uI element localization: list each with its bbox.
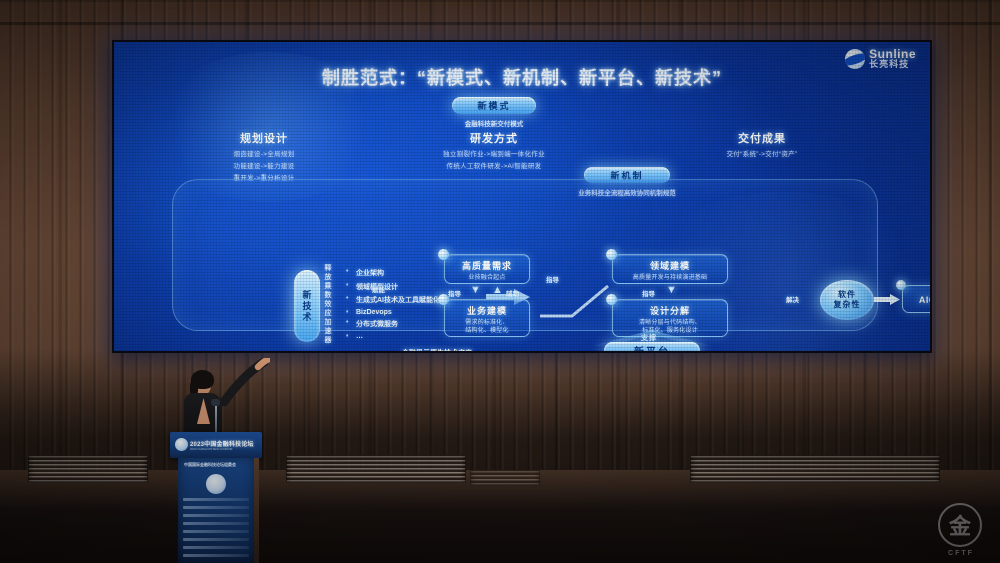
watermark-text: CFTF xyxy=(934,550,988,557)
label-guide-left: 指导 xyxy=(448,288,461,298)
column-delivery-result: 交付成果 交付“系统”->交付“资产” xyxy=(672,130,852,158)
microphone-icon xyxy=(211,399,220,406)
microphone-stand xyxy=(215,404,217,434)
podium-front-banner: 中国国际金融科技论坛组委会 xyxy=(178,458,254,563)
column-title: 交付成果 xyxy=(672,130,852,146)
label-resolve: 解决 xyxy=(786,294,799,304)
pill-new-technology-label: 新技术 xyxy=(294,270,320,342)
column-line: 交付“系统”->交付“资产” xyxy=(672,148,852,158)
software-complexity-bubble: 软件 复杂性 xyxy=(820,280,874,320)
tech-bullet-list: 企业架构 领域模型设计 生成式AI技术及工具赋能化 BizDevops 分布式微… xyxy=(346,268,440,343)
slide-title: 制胜范式：“新模式、新机制、新平台、新技术” xyxy=(114,64,930,90)
pill-new-model: 新模式 xyxy=(452,97,536,114)
podium-sponsor-row xyxy=(183,554,249,557)
flow-box-title: 业务建模 xyxy=(445,304,529,317)
arrow-label-empower: 赋能 xyxy=(372,284,385,294)
flow-box-sub: 高质量开发与持续演进基础 xyxy=(613,274,727,282)
wall-vent-left xyxy=(28,455,148,483)
tech-bullet-item: 生成式AI技术及工具赋能化 xyxy=(346,295,440,305)
resolve-arrow-icon xyxy=(874,294,900,305)
podium: 2023中国金融科技论坛 2023 CHINA FINTECH FORUM 中国… xyxy=(170,432,262,563)
pill-new-model-caption: 金融科技新交付模式 xyxy=(432,118,556,128)
column-line: 独立割裂作业->端到端一体化作业 xyxy=(404,148,584,158)
aigc-node-dot xyxy=(896,280,906,290)
podium-emblem-icon xyxy=(175,438,188,451)
flow-box-sub: 需求的标准化、 结构化、模型化 xyxy=(445,319,529,335)
watermark-glyph: 金 xyxy=(934,503,986,547)
podium-side-panel xyxy=(254,458,259,563)
arrow-down-right-icon: ▼ xyxy=(666,285,677,296)
column-title: 规划设计 xyxy=(174,130,354,146)
flow-box-sub: 业技融合起点 xyxy=(445,274,529,282)
diagonal-connector-icon xyxy=(538,282,612,318)
software-complexity-label: 软件 复杂性 xyxy=(834,290,861,310)
presentation-slide: Sunline 长亮科技 制胜范式：“新模式、新机制、新平台、新技术” 新模式 … xyxy=(114,42,930,351)
flow-box-title: 设计分解 xyxy=(613,304,727,317)
column-planning-design: 规划设计 烟囱建设->全局规划 功能建设->能力建设 重开发->重分析设计 xyxy=(174,130,354,182)
podium-sponsor-rows xyxy=(183,498,249,562)
arrow-down-left-icon: ▼ xyxy=(470,285,481,296)
tech-bullet-item: 企业架构 xyxy=(346,268,440,278)
podium-sponsor-row xyxy=(183,546,249,549)
led-screen: Sunline 长亮科技 制胜范式：“新模式、新机制、新平台、新技术” 新模式 … xyxy=(114,42,930,351)
podium-sponsor-row xyxy=(183,530,249,533)
aigc-label: AIGC+智能编码 xyxy=(919,293,930,306)
podium-subtitle: 2023 CHINA FINTECH FORUM xyxy=(190,447,232,451)
column-line: 传统人工软件研发->AI智能研发 xyxy=(404,160,584,170)
podium-sponsor-row xyxy=(183,498,249,501)
column-title: 研发方式 xyxy=(404,130,584,146)
tech-bullet-item: 分布式微服务 xyxy=(346,319,440,329)
led-screen-bezel: Sunline 长亮科技 制胜范式：“新模式、新机制、新平台、新技术” 新模式 … xyxy=(112,40,932,353)
flow-box-high-quality-requirement: 高质量需求 业技融合起点 xyxy=(444,254,530,284)
label-assist-left: 辅助 xyxy=(506,288,519,298)
column-line: 烟囱建设->全局规划 xyxy=(174,148,354,158)
flow-node-dot xyxy=(438,249,449,260)
wall-vent-far-right xyxy=(470,470,540,486)
flow-box-title: 领域建模 xyxy=(613,259,727,272)
wall-vent-center xyxy=(286,455,466,483)
platform-node-label: 金融级云原生技术底座 xyxy=(402,348,472,351)
arrow-up-left-icon: ▲ xyxy=(492,285,503,296)
wall-vent-right xyxy=(690,455,940,483)
aigc-smart-coding-box: AIGC+智能编码 xyxy=(902,285,930,313)
podium-seal-icon xyxy=(206,474,226,494)
flow-box-business-modeling: 业务建模 需求的标准化、 结构化、模型化 xyxy=(444,299,530,337)
wall-seam xyxy=(0,0,1000,2)
tech-bullet-item: BizDevops xyxy=(346,309,440,316)
pill-new-technology: 新技术 xyxy=(294,270,320,342)
column-rnd-method: 研发方式 独立割裂作业->端到端一体化作业 传统人工软件研发->AI智能研发 xyxy=(404,130,584,170)
flow-node-dot xyxy=(606,249,617,260)
flow-box-title: 高质量需求 xyxy=(445,259,529,272)
flow-box-sub: 清晰分层与代码结构、 标准化、服务化设计 xyxy=(613,319,727,335)
column-line: 功能建设->能力建设 xyxy=(174,160,354,170)
podium-sponsor-row xyxy=(183,522,249,525)
flow-box-domain-modeling: 领域建模 高质量开发与持续演进基础 xyxy=(612,254,728,284)
podium-sponsor-row xyxy=(183,538,249,541)
label-guide-right: 指导 xyxy=(642,288,655,298)
platform-arc xyxy=(394,338,914,351)
podium-header-plate: 2023中国金融科技论坛 2023 CHINA FINTECH FORUM xyxy=(170,432,262,458)
pill-new-technology-caption: 释放乘数效应加速器 xyxy=(322,264,332,351)
tech-bullet-item: 领域模型设计 xyxy=(346,282,440,292)
podium-banner-heading: 中国国际金融科技论坛组委会 xyxy=(184,462,236,468)
podium-sponsor-row xyxy=(183,514,249,517)
pill-new-model-label: 新模式 xyxy=(477,99,510,112)
ceiling-seam xyxy=(0,22,1000,25)
podium-sponsor-row xyxy=(183,506,249,509)
channel-watermark: 金 CFTF xyxy=(934,503,988,557)
flow-box-design-decomposition: 设计分解 清晰分层与代码结构、 标准化、服务化设计 xyxy=(612,299,728,337)
conference-room-background: Sunline 长亮科技 制胜范式：“新模式、新机制、新平台、新技术” 新模式 … xyxy=(0,0,1000,563)
